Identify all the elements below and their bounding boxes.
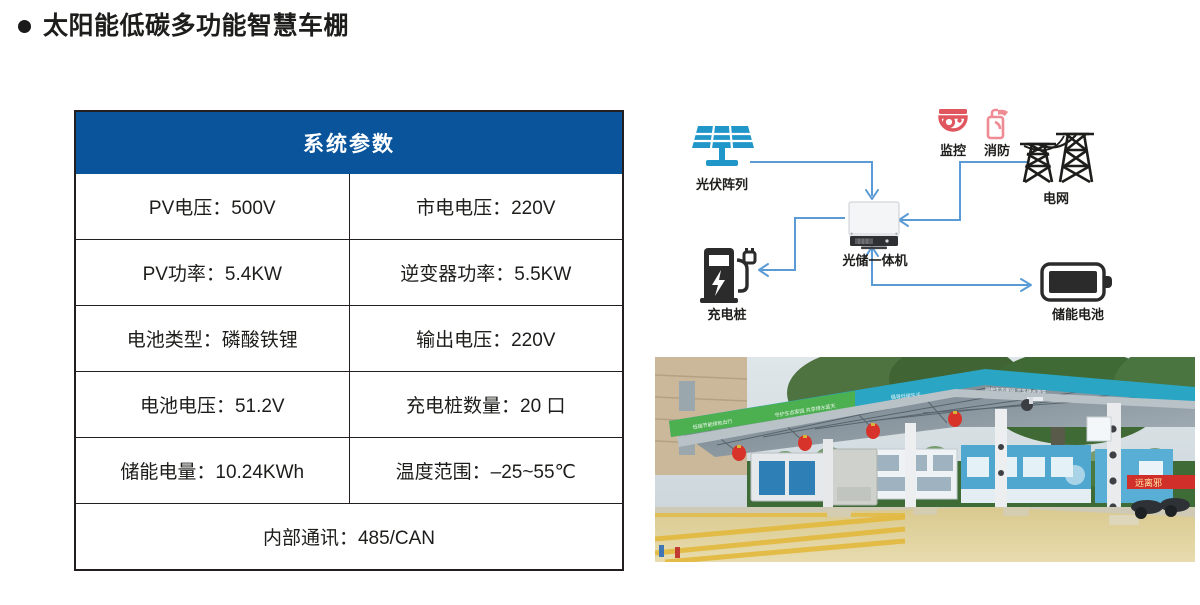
bullet-dot-icon (18, 20, 31, 33)
cell-internal-comms: 内部通讯：485/CAN (75, 504, 623, 571)
page-title-row: 太阳能低碳多功能智慧车棚 (18, 14, 349, 39)
svg-text:远离邪: 远离邪 (1135, 477, 1162, 488)
node-label-charging-pile: 充电桩 (692, 308, 762, 321)
cctv-camera-icon (936, 108, 970, 140)
table-row: 电池电压：51.2V 充电桩数量：20 口 (75, 372, 623, 438)
carport-photo-illustration: 低碳节能绿色出行 守护生态家园 共享绿水蓝天 倡导低碳生活 呵护生态家园 共享碧… (655, 357, 1195, 562)
node-label-pv-array: 光伏阵列 (676, 178, 768, 191)
fire-extinguisher-icon (980, 106, 1014, 140)
node-label-power-grid: 电网 (1024, 192, 1088, 205)
node-label-monitoring: 监控 (930, 144, 976, 157)
page-title: 太阳能低碳多功能智慧车棚 (43, 14, 349, 39)
table-row: 储能电量：10.24KWh 温度范围：–25~55℃ (75, 438, 623, 504)
cell-mains-voltage: 市电电压：220V (349, 174, 623, 240)
cell-battery-voltage: 电池电压：51.2V (75, 372, 349, 438)
flow-grid-to-inverter (900, 162, 1028, 220)
table-row: PV电压：500V 市电电压：220V (75, 174, 623, 240)
system-parameters-table: 系统参数 PV电压：500V 市电电压：220V PV功率：5.4KW 逆变器功… (74, 110, 624, 571)
cell-inverter-power: 逆变器功率：5.5KW (349, 240, 623, 306)
table-header-title: 系统参数 (75, 111, 623, 174)
carport-photo: 低碳节能绿色出行 守护生态家园 共享绿水蓝天 倡导低碳生活 呵护生态家园 共享碧… (655, 357, 1195, 562)
table-header-row: 系统参数 (75, 111, 623, 174)
node-label-fire-safety: 消防 (974, 144, 1020, 157)
cell-pv-voltage: PV电压：500V (75, 174, 349, 240)
cell-output-voltage: 输出电压：220V (349, 306, 623, 372)
node-label-battery: 储能电池 (1036, 308, 1120, 321)
solar-panel-icon (686, 122, 758, 174)
cell-charger-count: 充电桩数量：20 口 (349, 372, 623, 438)
transmission-tower-icon (1018, 130, 1094, 188)
table-row: PV功率：5.4KW 逆变器功率：5.5KW (75, 240, 623, 306)
table-row: 内部通讯：485/CAN (75, 504, 623, 571)
flow-pv-to-inverter (750, 162, 872, 196)
flow-inverter-to-charger (760, 218, 845, 270)
inverter-cabinet-icon (847, 200, 901, 250)
cell-battery-type: 电池类型：磷酸铁锂 (75, 306, 349, 372)
cell-storage-capacity: 储能电量：10.24KWh (75, 438, 349, 504)
ev-charger-icon (696, 246, 760, 304)
battery-icon (1040, 260, 1116, 304)
system-flow-diagram: 光伏阵列 监控 消防 (650, 100, 1195, 350)
cell-pv-power: PV功率：5.4KW (75, 240, 349, 306)
cell-temperature-range: 温度范围：–25~55℃ (349, 438, 623, 504)
table-row: 电池类型：磷酸铁锂 输出电压：220V (75, 306, 623, 372)
node-label-hybrid-unit: 光储一体机 (835, 254, 915, 267)
